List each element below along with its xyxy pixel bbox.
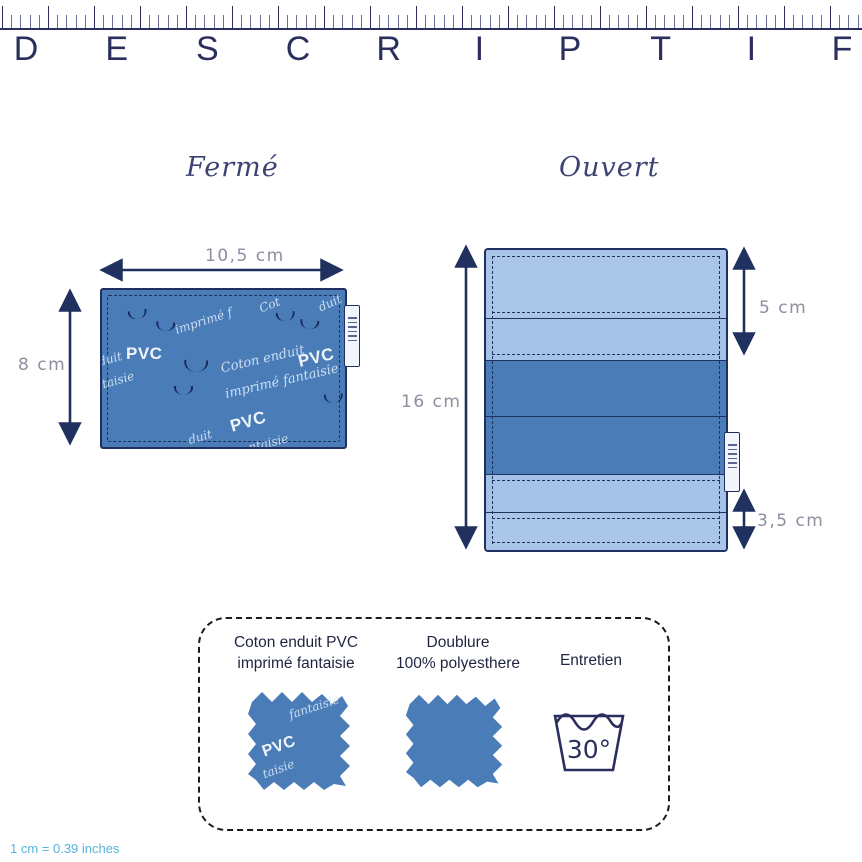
- ruler-tick-minor: [379, 15, 380, 28]
- ruler-tick-minor: [398, 15, 399, 28]
- legend-title-line2: 100% polyesthere: [388, 653, 528, 674]
- fabric-label-tab: [724, 432, 740, 492]
- label-lines: [731, 441, 733, 471]
- ruler-tick-minor: [858, 15, 859, 28]
- ruler-tick-minor: [39, 15, 40, 28]
- ruler-tick-minor: [545, 15, 546, 28]
- ruler-tick-minor: [296, 15, 297, 28]
- ruler-tick-major: [232, 6, 233, 28]
- page-title: DESCRIPTIF: [0, 30, 862, 78]
- ruler-tick-minor: [85, 15, 86, 28]
- fabric-text: duit: [316, 292, 344, 315]
- ruler-tick-major: [784, 6, 785, 28]
- ruler-tick-minor: [572, 15, 573, 28]
- legend-title-line1: Coton enduit PVC: [228, 632, 364, 653]
- ruler-tick-minor: [57, 15, 58, 28]
- ruler-tick-minor: [407, 15, 408, 28]
- fabric-text: ntaisie: [247, 431, 290, 449]
- ruler-tick-minor: [195, 15, 196, 28]
- descriptif-sheet: DESCRIPTIF Fermé Ouvert Cot imprimé f Co…: [0, 0, 862, 862]
- ruler-tick-minor: [204, 15, 205, 28]
- ruler-tick-major: [416, 6, 417, 28]
- ruler-tick-minor: [747, 15, 748, 28]
- heading-ouvert: Ouvert: [559, 152, 660, 183]
- legend-title-line1: Doublure: [388, 632, 528, 653]
- ruler-tick-minor: [526, 15, 527, 28]
- ruler-tick-major: [324, 6, 325, 28]
- ruler-tick-minor: [388, 15, 389, 28]
- legend-title-line2: imprimé fantaisie: [228, 653, 364, 674]
- ruler-tick-minor: [66, 15, 67, 28]
- ruler-tick-minor: [434, 15, 435, 28]
- fabric-text: duit: [100, 349, 124, 369]
- ruler-tick-minor: [361, 15, 362, 28]
- ruler-tick-minor: [444, 15, 445, 28]
- ruler-tick-minor: [628, 15, 629, 28]
- ruler-tick-minor: [103, 15, 104, 28]
- closed-height-label: 8 cm: [18, 355, 66, 375]
- bird-motif-icon: [127, 309, 147, 321]
- ruler-tick-minor: [499, 15, 500, 28]
- ruler-tick-minor: [720, 15, 721, 28]
- ruler-tick-minor: [20, 15, 21, 28]
- ruler-tick-minor: [701, 15, 702, 28]
- ruler-tick-minor: [582, 15, 583, 28]
- ruler-tick-minor: [664, 15, 665, 28]
- title-letter-i-5: I: [459, 30, 499, 69]
- lining-fabric-swatch: [404, 692, 506, 790]
- band-divider: [486, 318, 726, 319]
- ruler-tick-major: [278, 6, 279, 28]
- ruler-tick-minor: [821, 15, 822, 28]
- fabric-text: PVC: [228, 407, 269, 436]
- fabric-text: PVC: [126, 344, 162, 364]
- pocket-band: [486, 416, 726, 474]
- heading-ferme: Fermé: [186, 152, 279, 183]
- ruler-tick-minor: [30, 15, 31, 28]
- legend-column-care: Entretien: [545, 650, 637, 671]
- stitch-line: [719, 256, 720, 544]
- ruler-icon: [0, 0, 862, 30]
- ruler-tick-minor: [766, 15, 767, 28]
- ruler-tick-major: [692, 6, 693, 28]
- fabric-label-tab: [344, 305, 360, 367]
- ruler-tick-major: [738, 6, 739, 28]
- ruler-tick-minor: [536, 15, 537, 28]
- fabric-text: imprimé f: [173, 305, 234, 337]
- title-letter-e-1: E: [97, 30, 137, 69]
- title-letter-i-8: I: [731, 30, 771, 69]
- ruler-tick-major: [140, 6, 141, 28]
- ruler-tick-minor: [158, 15, 159, 28]
- ruler-tick-minor: [812, 15, 813, 28]
- bottom-pocket-label: 3,5 cm: [757, 511, 824, 531]
- ruler-tick-minor: [425, 15, 426, 28]
- ruler-tick-minor: [269, 15, 270, 28]
- ruler-tick-minor: [177, 15, 178, 28]
- band-divider: [486, 512, 726, 513]
- pocket-band: [486, 250, 726, 318]
- title-letter-t-7: T: [641, 30, 681, 69]
- stitch-line: [492, 312, 720, 313]
- stitch-line: [492, 354, 720, 355]
- ruler-tick-major: [94, 6, 95, 28]
- ruler-tick-minor: [122, 15, 123, 28]
- stitch-line: [492, 480, 720, 481]
- fabric-text: duit: [187, 427, 214, 447]
- ruler-tick-minor: [306, 15, 307, 28]
- ruler-tick-minor: [618, 15, 619, 28]
- ruler-tick-major: [646, 6, 647, 28]
- ruler-tick-minor: [609, 15, 610, 28]
- ruler-tick-minor: [471, 15, 472, 28]
- ruler-tick-minor: [563, 15, 564, 28]
- ruler-tick-minor: [517, 15, 518, 28]
- ruler-tick-minor: [112, 15, 113, 28]
- unit-conversion-note: 1 cm = 0.39 inches: [10, 841, 119, 856]
- legend-title-line1: Entretien: [545, 650, 637, 671]
- title-letter-s-2: S: [187, 30, 227, 69]
- ruler-tick-major: [48, 6, 49, 28]
- top-pocket-label: 5 cm: [759, 298, 807, 318]
- ruler-tick-major: [600, 6, 601, 28]
- ruler-tick-minor: [168, 15, 169, 28]
- title-letter-p-6: P: [550, 30, 590, 69]
- ruler-tick-major: [554, 6, 555, 28]
- title-letter-r-4: R: [369, 30, 409, 69]
- ruler-tick-minor: [729, 15, 730, 28]
- closed-wallet-illustration: Cot imprimé f Coton enduit PVC imprimé f…: [100, 288, 347, 449]
- ruler-tick-major: [370, 6, 371, 28]
- band-divider: [486, 474, 726, 475]
- stitch-line: [492, 518, 720, 519]
- ruler-tick-minor: [683, 15, 684, 28]
- ruler-tick-minor: [214, 15, 215, 28]
- pocket-band: [486, 360, 726, 416]
- ruler-tick-major: [186, 6, 187, 28]
- bird-motif-icon: [324, 393, 344, 403]
- ruler-tick-minor: [315, 15, 316, 28]
- ruler-tick-minor: [287, 15, 288, 28]
- stitch-line: [492, 256, 720, 257]
- ruler-tick-minor: [655, 15, 656, 28]
- ruler-tick-major: [508, 6, 509, 28]
- closed-width-label: 10,5 cm: [205, 246, 285, 266]
- bird-motif-icon: [184, 360, 208, 373]
- bird-motif-icon: [300, 319, 320, 330]
- ruler-tick-minor: [674, 15, 675, 28]
- ruler-tick-minor: [241, 15, 242, 28]
- ruler-tick-minor: [802, 15, 803, 28]
- ruler-tick-minor: [637, 15, 638, 28]
- fabric-text: ntaisie: [100, 369, 136, 394]
- ruler-tick-minor: [131, 15, 132, 28]
- bird-motif-icon: [174, 386, 193, 395]
- ruler-tick-minor: [149, 15, 150, 28]
- band-divider: [486, 416, 726, 417]
- ruler-tick-minor: [260, 15, 261, 28]
- ruler-tick-minor: [710, 15, 711, 28]
- ruler-tick-minor: [223, 15, 224, 28]
- ruler-tick-minor: [250, 15, 251, 28]
- ruler-tick-minor: [453, 15, 454, 28]
- ruler-tick-minor: [76, 15, 77, 28]
- title-letter-f-9: F: [822, 30, 862, 69]
- title-letter-c-3: C: [278, 30, 318, 69]
- svg-text:30°: 30°: [567, 735, 611, 764]
- title-letter-d-0: D: [6, 30, 46, 69]
- ruler-tick-minor: [342, 15, 343, 28]
- ruler-tick-minor: [793, 15, 794, 28]
- bird-motif-icon: [276, 311, 296, 322]
- legend-column-lining: Doublure 100% polyesthere: [388, 632, 528, 674]
- wash-care-icon: 30°: [549, 708, 629, 785]
- ruler-tick-major: [462, 6, 463, 28]
- bird-motif-icon: [156, 321, 176, 331]
- open-wallet-illustration: [484, 248, 728, 552]
- label-lines: [351, 314, 353, 344]
- ruler-tick-minor: [775, 15, 776, 28]
- band-divider: [486, 360, 726, 361]
- ruler-tick-minor: [591, 15, 592, 28]
- open-height-label: 16 cm: [401, 392, 461, 412]
- ruler-tick-minor: [848, 15, 849, 28]
- ruler-tick-major: [830, 6, 831, 28]
- legend-column-fabric: Coton enduit PVC imprimé fantaisie: [228, 632, 364, 674]
- ruler-tick-minor: [480, 15, 481, 28]
- ruler-tick-minor: [756, 15, 757, 28]
- ruler-tick-minor: [490, 15, 491, 28]
- stitch-line: [492, 256, 493, 544]
- ruler-tick-major: [2, 6, 3, 28]
- ruler-tick-minor: [352, 15, 353, 28]
- ruler-tick-minor: [11, 15, 12, 28]
- stitch-line: [492, 542, 720, 543]
- ruler-tick-minor: [839, 15, 840, 28]
- ruler-tick-minor: [333, 15, 334, 28]
